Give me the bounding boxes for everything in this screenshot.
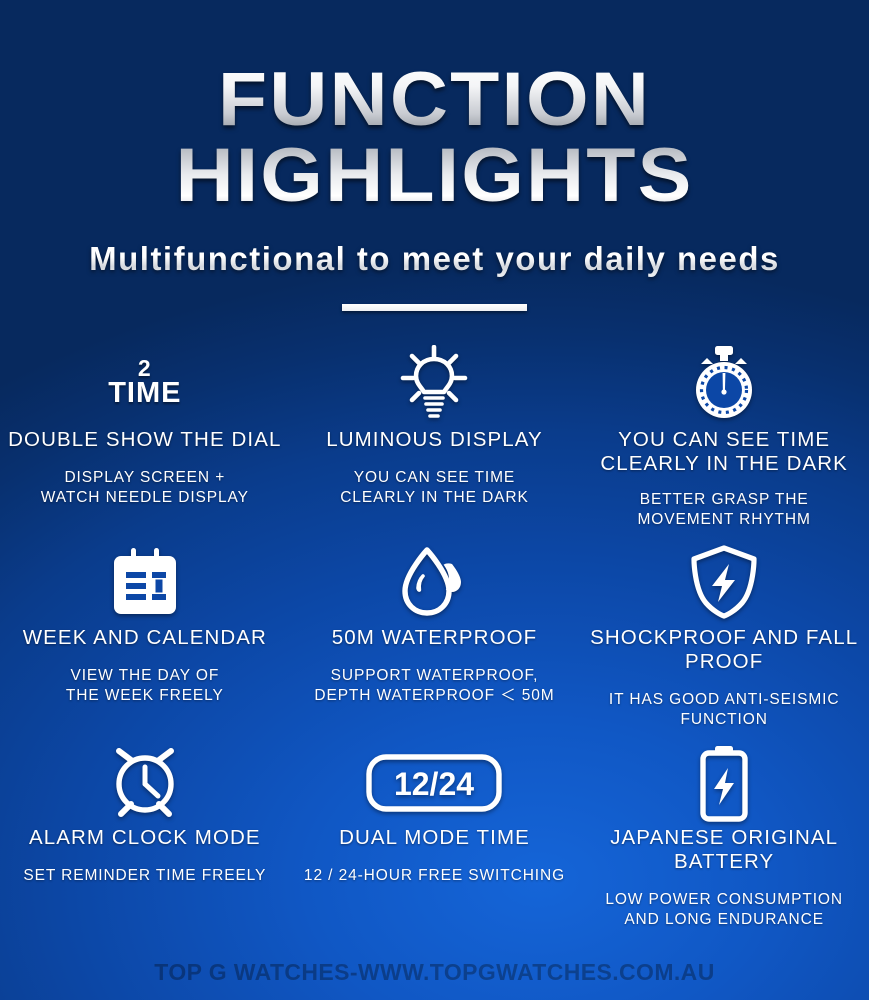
feature-cell-alarm-clock: ALARM CLOCK MODE SET REMINDER TIME FREEL… [0,740,290,940]
feature-desc: IT HAS GOOD ANTI-SEISMIC FUNCTION [609,690,840,729]
feature-cell-shockproof: SHOCKPROOF AND FALL PROOF IT HAS GOOD AN… [579,540,869,740]
title-divider [342,304,527,311]
page-title: FUNCTION HIGHLIGHTS [0,62,869,214]
feature-cell-luminous-display: LUMINOUS DISPLAY YOU CAN SEE TIME CLEARL… [290,340,580,540]
shield-bolt-icon [688,545,760,621]
lightbulb-icon [397,345,471,421]
feature-title: JAPANESE ORIGINAL BATTERY [585,826,863,874]
site-watermark: TOP G WATCHES-WWW.TOPGWATCHES.COM.AU [0,959,869,986]
feature-title: SHOCKPROOF AND FALL PROOF [585,626,863,674]
feature-highlights-page: FUNCTION HIGHLIGHTS Multifunctional to m… [0,0,869,1000]
feature-cell-waterproof: 50M WATERPROOF SUPPORT WATERPROOF, DEPTH… [290,540,580,740]
page-header: FUNCTION HIGHLIGHTS Multifunctional to m… [0,0,869,311]
feature-cell-week-calendar: WEEK AND CALENDAR VIEW THE DAY OF THE WE… [0,540,290,740]
battery-bolt-icon [694,744,754,822]
two-time-word: TIME [108,380,181,408]
feature-desc: LOW POWER CONSUMPTION AND LONG ENDURANCE [605,890,843,929]
feature-cell-dual-mode-time: 12/24 DUAL MODE TIME 12 / 24-HOUR FREE S… [290,740,580,940]
feature-title: DOUBLE SHOW THE DIAL [8,428,281,452]
twelve-twentyfour-label: 12/24 [394,766,474,802]
feature-cell-double-show-dial: 2 TIME DOUBLE SHOW THE DIAL DISPLAY SCRE… [0,340,290,540]
calendar-icon [107,546,183,620]
feature-cell-see-time-dark: YOU CAN SEE TIME CLEARLY IN THE DARK BET… [579,340,869,540]
feature-title: LUMINOUS DISPLAY [326,428,543,452]
feature-desc: 12 / 24-HOUR FREE SWITCHING [304,866,565,885]
feature-title: 50M WATERPROOF [332,626,538,650]
feature-desc: DISPLAY SCREEN + WATCH NEEDLE DISPLAY [41,468,249,507]
feature-title: WEEK AND CALENDAR [23,626,267,650]
feature-title: YOU CAN SEE TIME CLEARLY IN THE DARK [600,428,848,476]
feature-desc: SET REMINDER TIME FREELY [23,866,266,885]
two-time-text-icon: 2 TIME [108,344,181,422]
feature-title: ALARM CLOCK MODE [29,826,261,850]
feature-cell-battery: JAPANESE ORIGINAL BATTERY LOW POWER CONS… [579,740,869,940]
alarm-clock-icon [107,745,183,821]
feature-title: DUAL MODE TIME [339,826,530,850]
feature-desc: SUPPORT WATERPROOF, DEPTH WATERPROOF ＜ 5… [314,666,554,705]
twelve-twentyfour-icon: 12/24 [365,753,503,813]
feature-desc: VIEW THE DAY OF THE WEEK FREELY [66,666,224,705]
feature-desc: BETTER GRASP THE MOVEMENT RHYTHM [637,490,810,529]
feature-grid: 2 TIME DOUBLE SHOW THE DIAL DISPLAY SCRE… [0,340,869,940]
water-drop-icon [396,546,472,620]
feature-desc: YOU CAN SEE TIME CLEARLY IN THE DARK [340,468,529,507]
page-subtitle: Multifunctional to meet your daily needs [0,240,869,278]
stopwatch-icon [685,345,763,421]
